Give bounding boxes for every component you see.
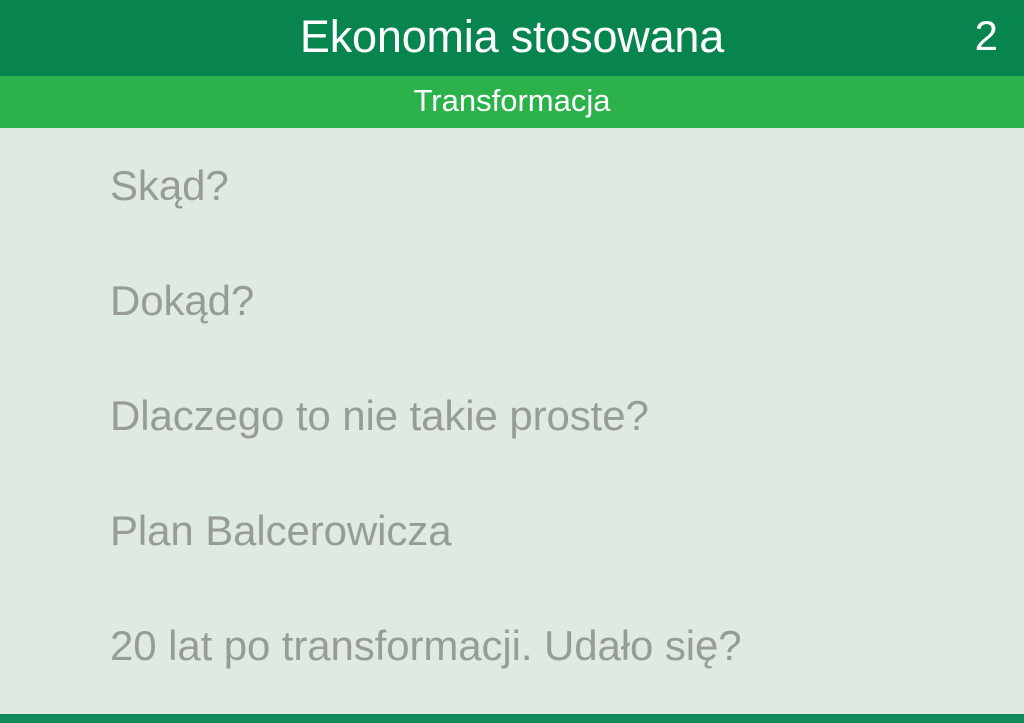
list-item: Skąd? bbox=[110, 160, 990, 212]
list-item: Dokąd? bbox=[110, 275, 990, 327]
slide-subtitle: Transformacja bbox=[0, 76, 1024, 128]
list-item: Plan Balcerowicza bbox=[110, 505, 990, 557]
slide-page-number: 2 bbox=[975, 0, 998, 76]
slide-body: Skąd? Dokąd? Dlaczego to nie takie prost… bbox=[0, 128, 1024, 714]
slide-agenda-list: Skąd? Dokąd? Dlaczego to nie takie prost… bbox=[110, 160, 990, 672]
slide-footer-rule bbox=[0, 714, 1024, 723]
list-item: 20 lat po transformacji. Udało się? bbox=[110, 620, 990, 672]
slide-title: Ekonomia stosowana bbox=[0, 0, 1024, 76]
presentation-slide: Ekonomia stosowana 2 Transformacja Skąd?… bbox=[0, 0, 1024, 723]
list-item: Dlaczego to nie takie proste? bbox=[110, 390, 990, 442]
